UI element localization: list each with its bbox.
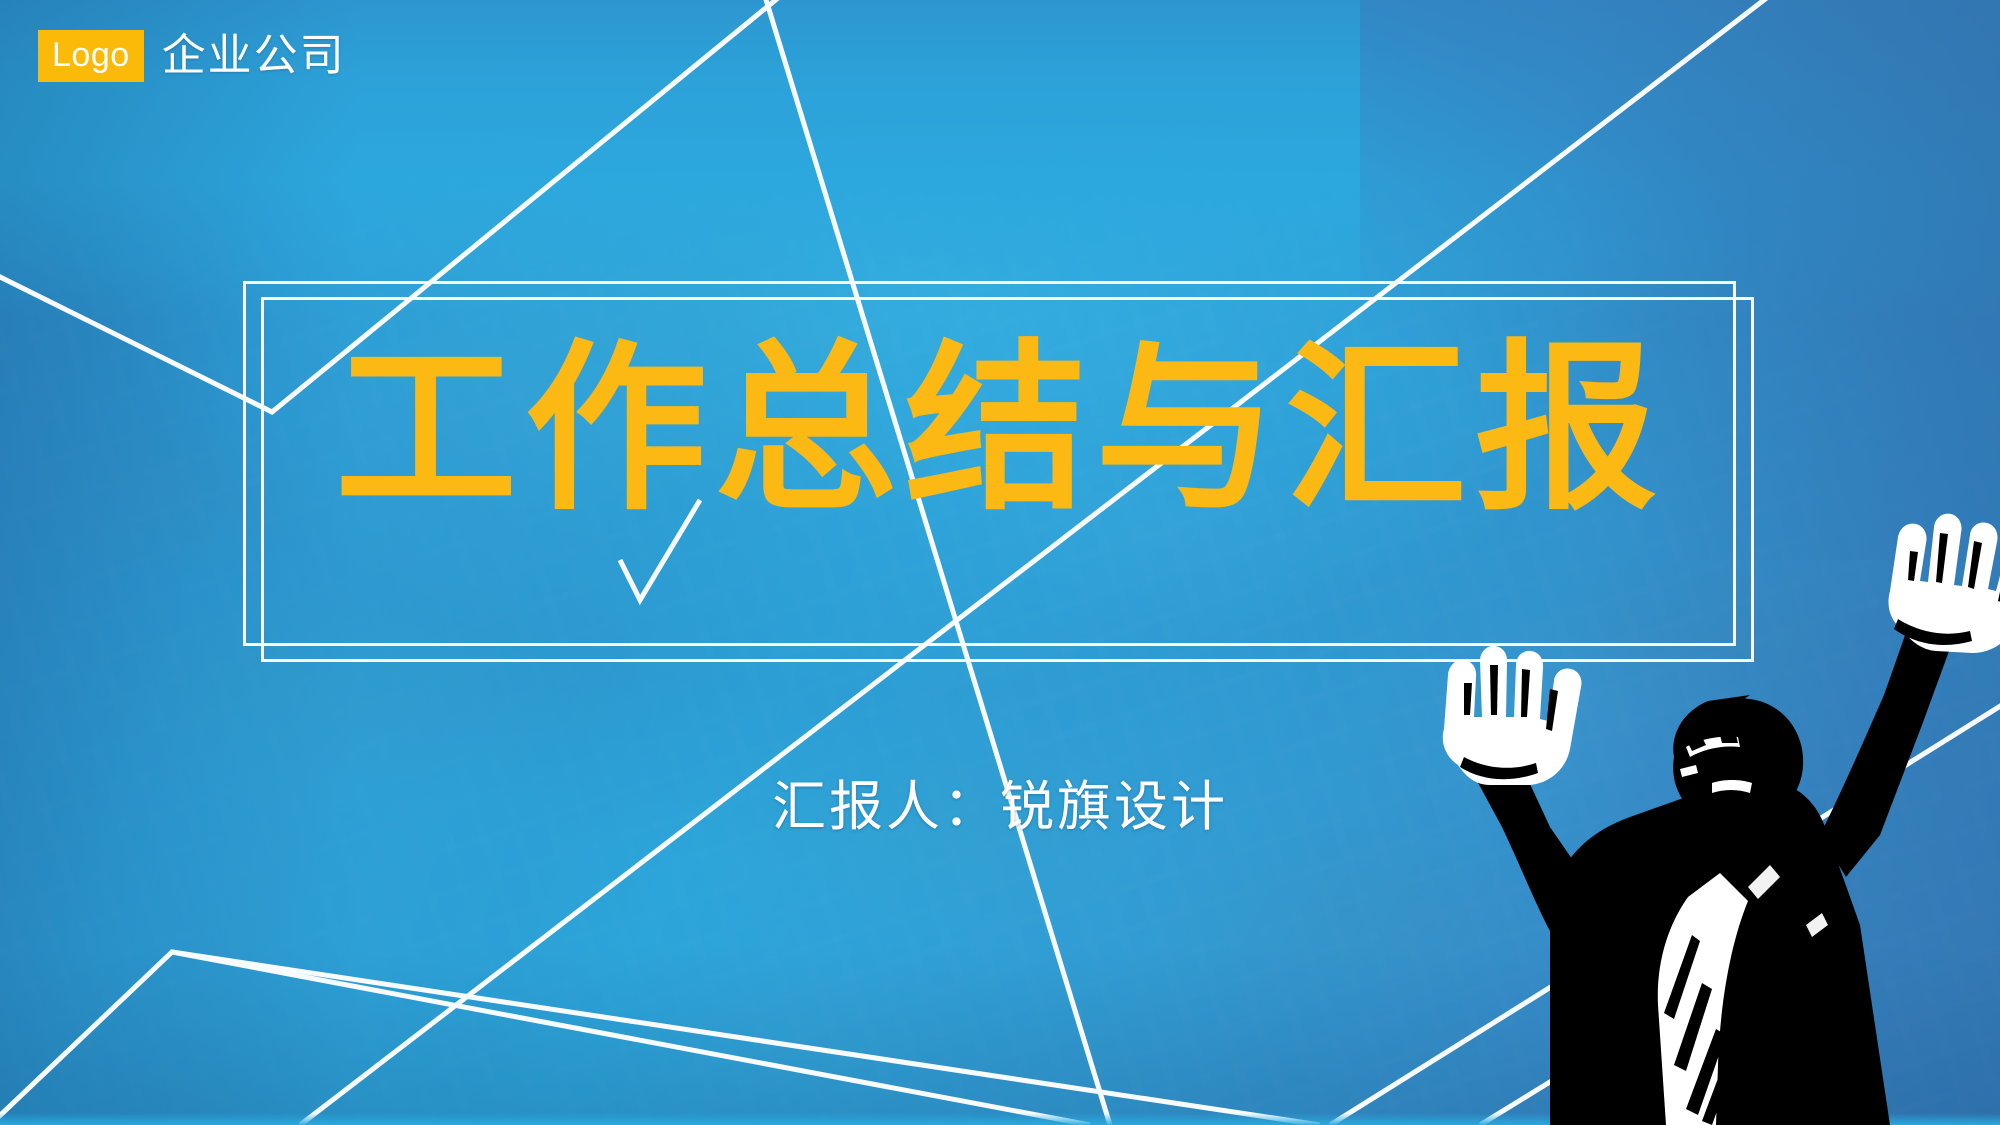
slide-header: Logo 企业公司: [38, 30, 346, 82]
logo-badge[interactable]: Logo: [38, 30, 144, 82]
businessman-arms-raised-silhouette-icon: [1250, 365, 2000, 1125]
company-name-label: 企业公司: [162, 34, 346, 78]
cover-slide: Logo 企业公司 工作总结与汇报 汇报人：锐旗设计: [0, 0, 2000, 1125]
